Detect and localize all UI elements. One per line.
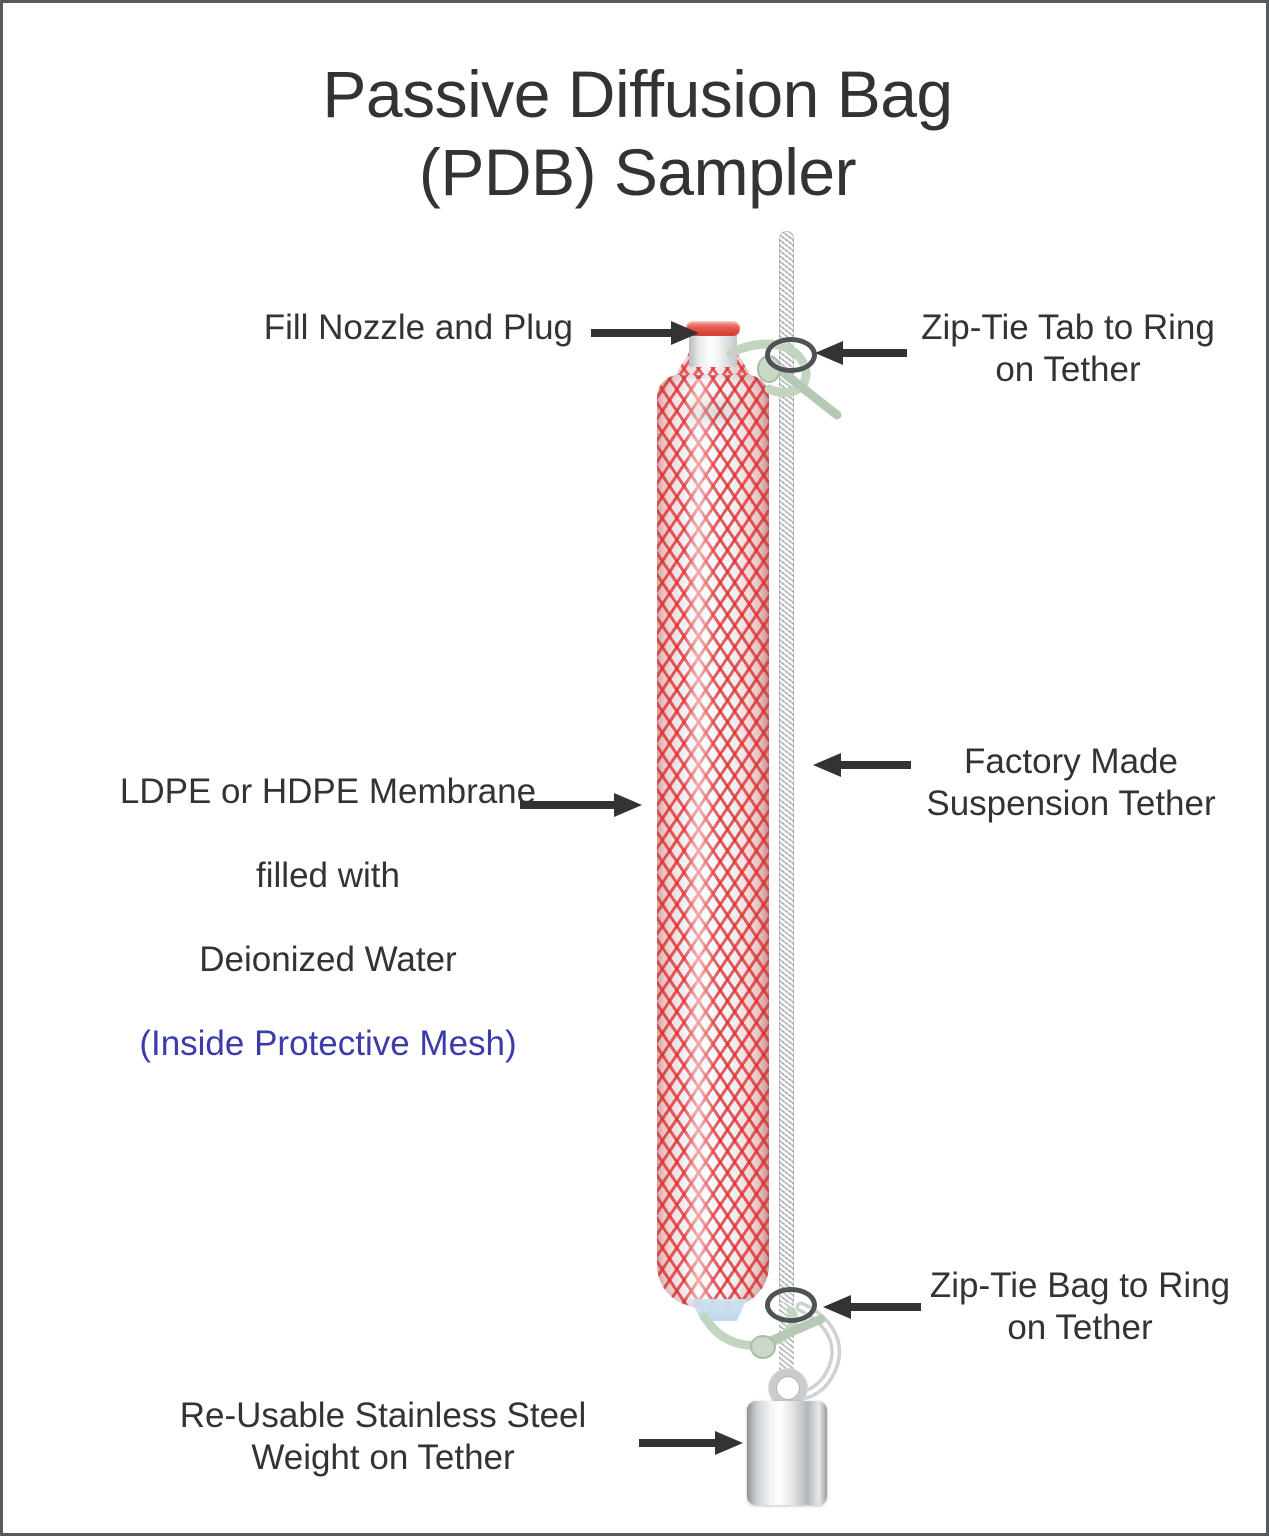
arrow-head: [813, 753, 841, 777]
arrow-suspension-tether: [813, 753, 911, 777]
diffusion-bag-body: [657, 375, 769, 1307]
arrow-zip-tie-bag: [823, 1295, 921, 1319]
label-membrane-line3: Deionized Water: [199, 940, 456, 979]
tether-ring-top-icon: [765, 337, 817, 373]
label-zip-tie-tab: Zip-Tie Tab to Ring on Tether: [903, 307, 1233, 391]
label-zip-tie-bag: Zip-Tie Bag to Ring on Tether: [921, 1265, 1239, 1349]
arrow-shaft: [639, 1439, 717, 1447]
arrow-shaft: [520, 801, 616, 809]
page-title: Passive Diffusion Bag (PDB) Sampler: [3, 55, 1269, 211]
arrow-weight: [639, 1431, 743, 1455]
label-membrane-line1: LDPE or HDPE Membrane: [120, 772, 536, 811]
arrow-head: [715, 1431, 743, 1455]
pdb-sampler-diagram: Passive Diffusion Bag (PDB) Sampler Fill…: [0, 0, 1269, 1536]
arrow-shaft: [591, 329, 673, 337]
arrow-head: [671, 321, 699, 345]
label-suspension-tether: Factory Made Suspension Tether: [911, 741, 1231, 825]
arrow-shaft: [849, 1303, 921, 1311]
arrow-shaft: [841, 349, 907, 357]
label-membrane-line2: filled with: [256, 856, 400, 895]
arrow-head: [823, 1295, 851, 1319]
label-membrane: LDPE or HDPE Membrane filled with Deioni…: [103, 729, 553, 1107]
arrow-zip-tie-tab: [815, 341, 907, 365]
label-fill-nozzle: Fill Nozzle and Plug: [183, 307, 573, 349]
label-membrane-line4: (Inside Protective Mesh): [103, 1023, 553, 1065]
label-weight: Re-Usable Stainless Steel Weight on Teth…: [143, 1395, 623, 1479]
arrow-head: [614, 793, 642, 817]
stainless-steel-weight: [747, 1401, 827, 1505]
tether-ring-bottom-icon: [765, 1287, 817, 1323]
arrow-membrane: [520, 793, 642, 817]
arrow-fill-nozzle: [591, 321, 699, 345]
arrow-shaft: [839, 761, 911, 769]
arrow-head: [815, 341, 843, 365]
